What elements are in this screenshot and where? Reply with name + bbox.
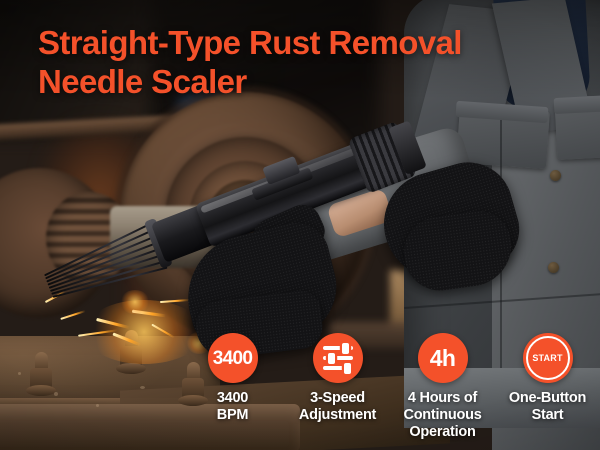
badge-text: START xyxy=(532,353,562,363)
feature-label: 3-Speed Adjustment xyxy=(299,390,376,424)
rust-speck xyxy=(140,386,145,389)
bpm-number-icon: 3400 xyxy=(208,333,258,383)
jacket-pocket-flap xyxy=(554,94,600,114)
product-banner: Straight-Type Rust Removal Needle Scaler… xyxy=(0,0,600,450)
headline-line-1: Straight-Type Rust Removal xyxy=(38,24,508,63)
rust-bolt xyxy=(26,352,56,398)
rust-speck xyxy=(96,404,99,407)
feature-item-runtime: 4h 4 Hours of Continuous Operation xyxy=(390,333,495,440)
rust-speck xyxy=(54,392,58,396)
rust-speck xyxy=(18,372,21,375)
start-button-icon: START xyxy=(523,333,573,383)
badge-text: 3400 xyxy=(213,349,252,368)
jacket-button xyxy=(550,170,561,181)
feature-label: One-Button Start xyxy=(509,390,586,424)
page-title: Straight-Type Rust Removal Needle Scaler xyxy=(38,24,508,101)
badge-text: 4h xyxy=(430,347,455,370)
feature-label: 4 Hours of Continuous Operation xyxy=(403,390,481,440)
jacket-button xyxy=(548,262,559,273)
start-ring-glyph: START xyxy=(526,336,570,380)
feature-item-start: START One-Button Start xyxy=(495,333,600,424)
feature-label: 3400 BPM xyxy=(217,390,248,424)
speed-slider-icon xyxy=(313,333,363,383)
hours-number-icon: 4h xyxy=(418,333,468,383)
feature-item-bpm: 3400 3400 BPM xyxy=(180,333,285,424)
headline-line-2: Needle Scaler xyxy=(38,63,508,102)
slider-glyph xyxy=(323,345,353,371)
feature-list: 3400 3400 BPM 3-Speed Adjustment 4h xyxy=(180,333,600,445)
feature-item-speed: 3-Speed Adjustment xyxy=(285,333,390,424)
